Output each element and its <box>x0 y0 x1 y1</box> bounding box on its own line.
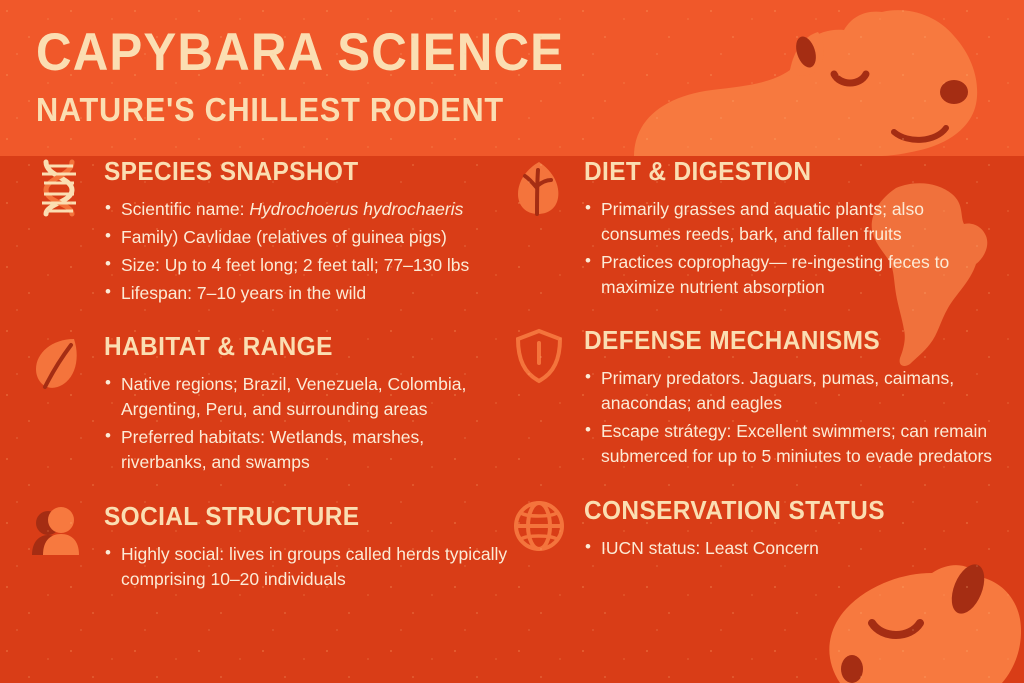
bullet-list: Highly social: lives in groups called he… <box>104 542 508 592</box>
bullet-list: Primarily grasses and aquatic plants; al… <box>584 197 1008 299</box>
section-body: CONSERVATION STATUS IUCN status: Least C… <box>584 495 1008 561</box>
right-column: DIET & DIGESTION Primarily grasses and a… <box>508 156 1008 567</box>
page-title: CAPYBARA SCIENCE <box>36 26 564 79</box>
section-body: HABITAT & RANGE Native regions; Brazil, … <box>104 331 508 474</box>
list-item: Scientific name: Hydrochoerus hydrochaer… <box>104 197 508 222</box>
section-social-structure: SOCIAL STRUCTURE Highly social: lives in… <box>28 501 508 592</box>
list-item: Preferred habitats: Wetlands, marshes, r… <box>104 425 508 475</box>
header-banner: CAPYBARA SCIENCE NATURE'S CHILLEST RODEN… <box>0 0 1024 156</box>
list-item: Primary predators. Jaguars, pumas, caima… <box>584 366 1008 416</box>
content-area: SPECIES SNAPSHOT Scientific name: Hydroc… <box>0 156 1024 683</box>
section-title: DIET & DIGESTION <box>584 156 983 187</box>
section-body: SOCIAL STRUCTURE Highly social: lives in… <box>104 501 508 592</box>
title-block: CAPYBARA SCIENCE NATURE'S CHILLEST RODEN… <box>36 26 604 126</box>
section-diet-digestion: DIET & DIGESTION Primarily grasses and a… <box>508 156 1008 299</box>
bullet-list: IUCN status: Least Concern <box>584 536 1008 561</box>
section-species-snapshot: SPECIES SNAPSHOT Scientific name: Hydroc… <box>28 156 508 305</box>
list-item: Practices coprophagy— re-ingesting feces… <box>584 250 1008 300</box>
people-icon <box>28 501 90 563</box>
section-title: DEFENSE MECHANISMS <box>584 325 983 356</box>
shield-icon <box>508 325 570 387</box>
section-title: SOCIAL STRUCTURE <box>104 501 484 532</box>
bullet-text: Scientific name: <box>121 199 249 219</box>
bullet-text-italic: Hydrochoerus hydrochaeris <box>249 199 463 219</box>
bullet-list: Native regions; Brazil, Venezuela, Colom… <box>104 372 508 474</box>
section-title: HABITAT & RANGE <box>104 331 484 362</box>
leaf-icon <box>28 331 90 393</box>
section-title: SPECIES SNAPSHOT <box>104 156 484 187</box>
section-body: DEFENSE MECHANISMS Primary predators. Ja… <box>584 325 1008 468</box>
list-item: Highly social: lives in groups called he… <box>104 542 508 592</box>
globe-icon <box>508 495 570 557</box>
dna-helix-icon <box>28 156 90 218</box>
list-item: Escape strátegy: Excellent swimmers; can… <box>584 419 1008 469</box>
list-item: Size: Up to 4 feet long; 2 feet tall; 77… <box>104 253 508 278</box>
capybara-illustration <box>594 0 1024 156</box>
bullet-list: Scientific name: Hydrochoerus hydrochaer… <box>104 197 508 305</box>
list-item: IUCN status: Least Concern <box>584 536 1008 561</box>
list-item: Lifespan: 7–10 years in the wild <box>104 281 508 306</box>
list-item: Primarily grasses and aquatic plants; al… <box>584 197 1008 247</box>
section-title: CONSERVATION STATUS <box>584 495 983 526</box>
section-body: DIET & DIGESTION Primarily grasses and a… <box>584 156 1008 299</box>
bullet-list: Primary predators. Jaguars, pumas, caima… <box>584 366 1008 468</box>
section-defense-mechanisms: DEFENSE MECHANISMS Primary predators. Ja… <box>508 325 1008 468</box>
left-column: SPECIES SNAPSHOT Scientific name: Hydroc… <box>28 156 508 597</box>
list-item: Native regions; Brazil, Venezuela, Colom… <box>104 372 508 422</box>
section-habitat-range: HABITAT & RANGE Native regions; Brazil, … <box>28 331 508 474</box>
section-body: SPECIES SNAPSHOT Scientific name: Hydroc… <box>104 156 508 305</box>
leaf-icon <box>508 156 570 218</box>
list-item: Family) Cavlidae (relatives of guinea pi… <box>104 225 508 250</box>
section-conservation-status: CONSERVATION STATUS IUCN status: Least C… <box>508 495 1008 561</box>
page-subtitle: NATURE'S CHILLEST RODENT <box>36 93 564 126</box>
